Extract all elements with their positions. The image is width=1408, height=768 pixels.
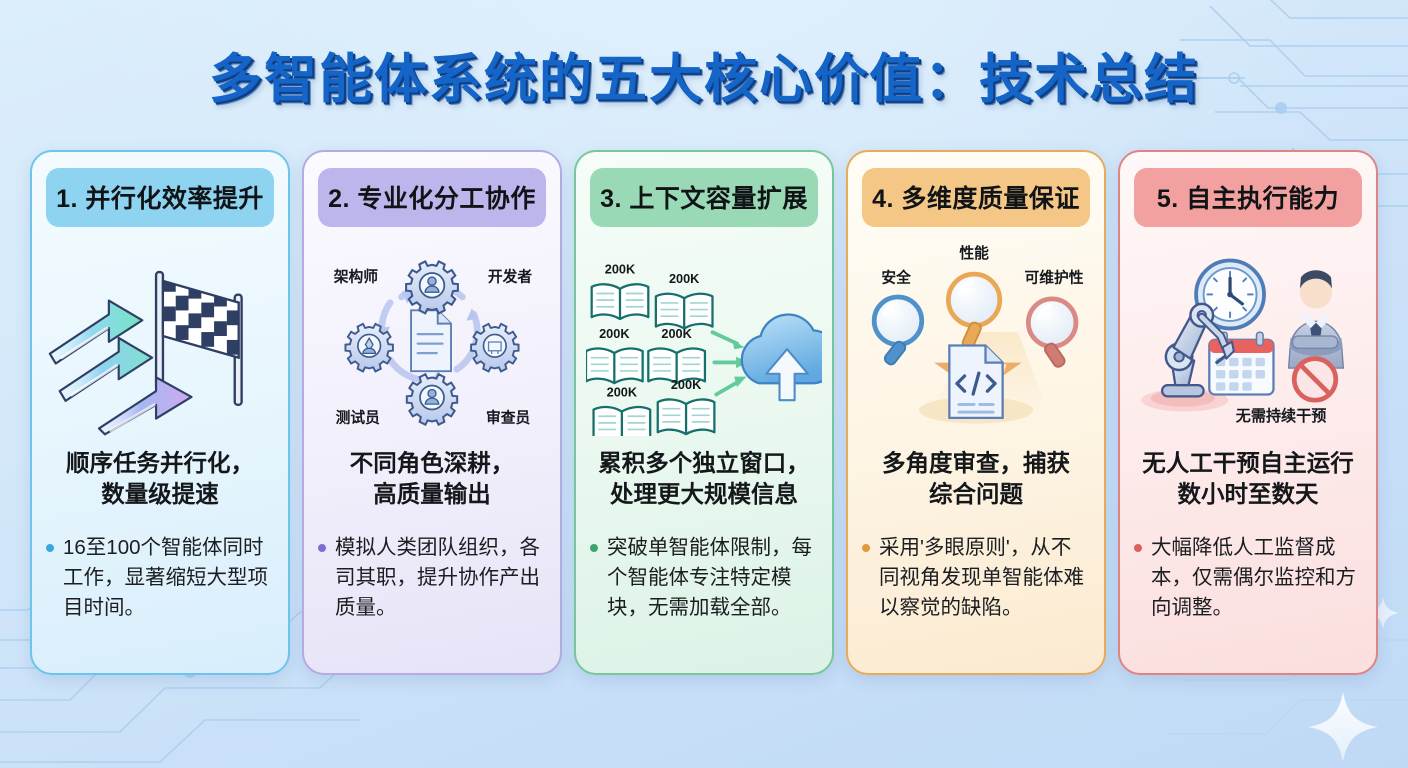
dimension-label-security: 安全 bbox=[881, 268, 911, 286]
card-bullet-autonomous-execution: 大幅降低人工监督成本，仅需偶尔监控和方向调整。 bbox=[1130, 533, 1366, 623]
card-title-quality-assurance: 4. 多维度质量保证 bbox=[862, 168, 1090, 227]
dimension-label-maintainability: 可维护性 bbox=[1025, 268, 1084, 286]
card-parallel-efficiency[interactable]: 1. 并行化效率提升 bbox=[30, 150, 290, 675]
card-bullet-quality-assurance: 采用'多眼原则'，从不同视角发现单智能体难以察觉的缺陷。 bbox=[858, 533, 1094, 623]
value-cards-container: 1. 并行化效率提升 bbox=[0, 150, 1408, 675]
card-headline-autonomous-execution: 无人工干预自主运行 数小时至数天 bbox=[1142, 448, 1354, 511]
card-autonomous-execution[interactable]: 5. 自主执行能力 bbox=[1118, 150, 1378, 675]
card-title-context-capacity: 3. 上下文容量扩展 bbox=[590, 168, 818, 227]
card-quality-assurance[interactable]: 4. 多维度质量保证 bbox=[846, 150, 1106, 675]
role-label-tester: 测试员 bbox=[336, 408, 381, 426]
book-label-200k-5: 200K bbox=[607, 384, 638, 399]
card-bullet-context-capacity: 突破单智能体限制，每个智能体专注特定模块，无需加载全部。 bbox=[586, 533, 822, 623]
bullet-text: 模拟人类团队组织，各司其职，提升协作产出质量。 bbox=[335, 533, 544, 623]
bullet-dot-icon bbox=[862, 544, 870, 552]
illustration-gears-roles-cycle: 架构师 开发者 测试员 审查员 bbox=[314, 233, 550, 438]
book-label-200k-4: 200K bbox=[661, 325, 692, 340]
card-bullet-parallel-efficiency: 16至100个智能体同时工作，显著缩短大型项目时间。 bbox=[42, 533, 278, 623]
dimension-label-performance: 性能 bbox=[959, 243, 989, 261]
card-title-autonomous-execution: 5. 自主执行能力 bbox=[1134, 168, 1362, 227]
page-title: 多智能体系统的五大核心价值：技术总结 bbox=[209, 37, 1199, 113]
book-label-200k-3: 200K bbox=[599, 325, 630, 340]
card-headline-quality-assurance: 多角度审查，捕获 综合问题 bbox=[882, 448, 1070, 511]
bullet-dot-icon bbox=[590, 544, 598, 552]
caption-no-continuous-intervention: 无需持续干预 bbox=[1235, 406, 1327, 424]
card-bullet-specialized-collaboration: 模拟人类团队组织，各司其职，提升协作产出质量。 bbox=[314, 533, 550, 623]
page-title-container: 多智能体系统的五大核心价值：技术总结 bbox=[0, 0, 1408, 150]
card-title-parallel-efficiency: 1. 并行化效率提升 bbox=[46, 168, 274, 227]
bullet-dot-icon bbox=[1134, 544, 1142, 552]
illustration-books-to-cloud: 200K 200K 200K 200K 200K 200K bbox=[586, 233, 822, 438]
bullet-text: 大幅降低人工监督成本，仅需偶尔监控和方向调整。 bbox=[1151, 533, 1360, 623]
book-label-200k-2: 200K bbox=[669, 271, 700, 286]
book-label-200k-6: 200K bbox=[671, 376, 702, 391]
bullet-dot-icon bbox=[46, 544, 54, 552]
card-context-capacity[interactable]: 3. 上下文容量扩展 bbox=[574, 150, 834, 675]
card-specialized-collaboration[interactable]: 2. 专业化分工协作 bbox=[302, 150, 562, 675]
bullet-text: 突破单智能体限制，每个智能体专注特定模块，无需加载全部。 bbox=[607, 533, 816, 623]
card-headline-context-capacity: 累积多个独立窗口， 处理更大规模信息 bbox=[598, 448, 810, 511]
role-label-reviewer: 审查员 bbox=[486, 408, 531, 426]
card-headline-specialized-collaboration: 不同角色深耕， 高质量输出 bbox=[350, 448, 515, 511]
illustration-magnifiers-code-document: 安全 性能 可维护性 bbox=[858, 233, 1094, 438]
role-label-architect: 架构师 bbox=[333, 267, 379, 285]
card-title-specialized-collaboration: 2. 专业化分工协作 bbox=[318, 168, 546, 227]
illustration-robot-clock-calendar-person: 无需持续干预 bbox=[1130, 233, 1366, 438]
bullet-dot-icon bbox=[318, 544, 326, 552]
card-headline-parallel-efficiency: 顺序任务并行化， 数量级提速 bbox=[66, 448, 254, 511]
bullet-text: 采用'多眼原则'，从不同视角发现单智能体难以察觉的缺陷。 bbox=[879, 533, 1088, 623]
illustration-arrows-to-checkered-flag bbox=[42, 233, 278, 438]
role-label-developer: 开发者 bbox=[488, 267, 533, 285]
bullet-text: 16至100个智能体同时工作，显著缩短大型项目时间。 bbox=[63, 533, 272, 623]
sparkle-decoration-icon bbox=[1306, 690, 1380, 764]
book-label-200k-1: 200K bbox=[605, 261, 636, 276]
